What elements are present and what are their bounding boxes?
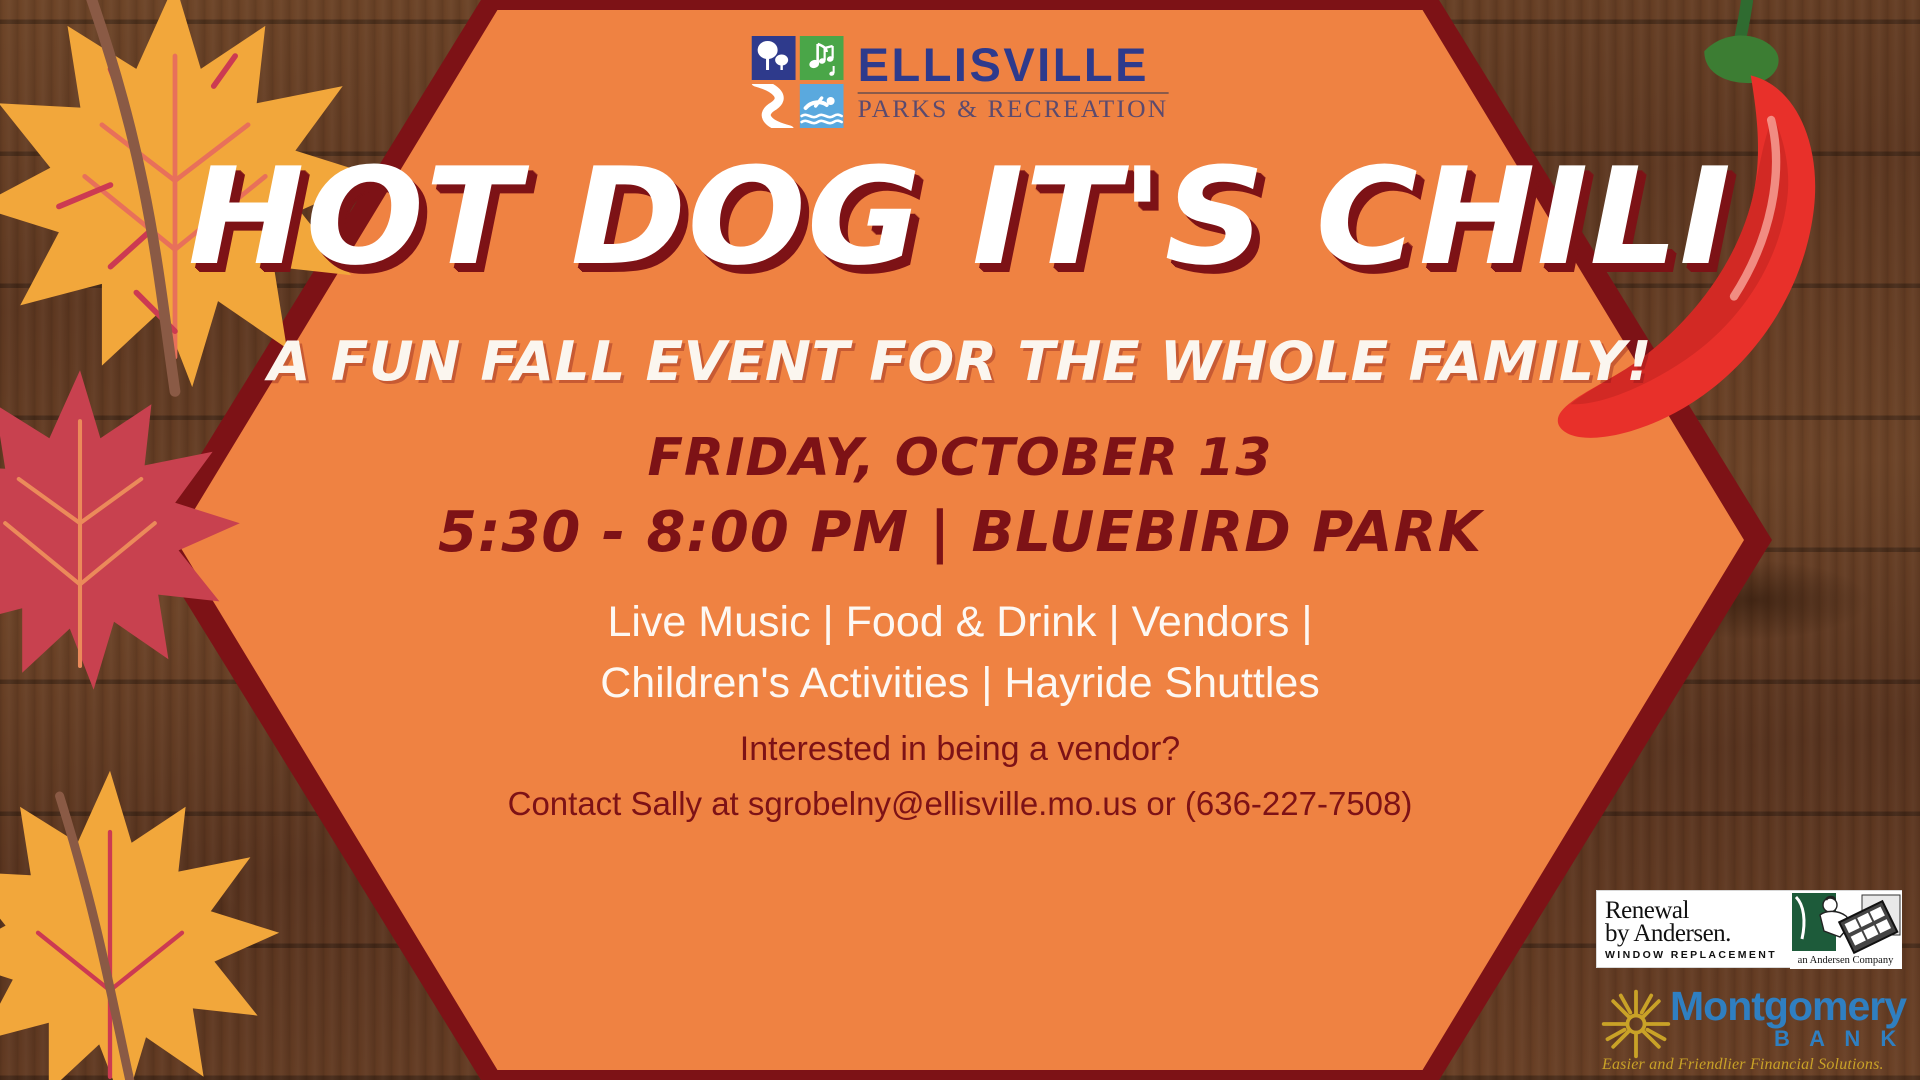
- vendor-question: Interested in being a vendor?: [0, 730, 1920, 769]
- rba-line-2: by Andersen.: [1605, 922, 1783, 945]
- event-time-location: 5:30 - 8:00 PM | BLUEBIRD PARK: [0, 500, 1920, 565]
- sunburst-icon: [1598, 986, 1674, 1062]
- montgomery-tagline: Easier and Friendlier Financial Solution…: [1602, 1056, 1908, 1074]
- vendor-contact: Contact Sally at sgrobelny@ellisville.mo…: [0, 785, 1920, 823]
- event-flyer: ELLISVILLE PARKS & RECREATION HOT DOG IT…: [0, 0, 1920, 1080]
- swimmer-icon: [800, 84, 844, 128]
- org-name: ELLISVILLE: [858, 43, 1169, 88]
- vendor-info: Interested in being a vendor? Contact Sa…: [0, 730, 1920, 823]
- rba-line-1: Renewal: [1605, 899, 1783, 922]
- rba-tagline: WINDOW REPLACEMENT: [1605, 949, 1783, 961]
- ellisville-parks-recreation-logo: ELLISVILLE PARKS & RECREATION: [752, 36, 1169, 128]
- montgomery-bank-logo: Montgomery B A N K Easier and Friendlier…: [1596, 972, 1912, 1076]
- activities-list: Live Music | Food & Drink | Vendors | Ch…: [0, 592, 1920, 714]
- montgomery-bank-word: B A N K: [1774, 1028, 1903, 1050]
- event-subtitle: A FUN FALL EVENT FOR THE WHOLE FAMILY!: [0, 330, 1920, 393]
- river-path-icon: [752, 84, 796, 128]
- page-title: HOT DOG IT'S CHILI: [0, 150, 1920, 284]
- logo-wordmark: ELLISVILLE PARKS & RECREATION: [858, 43, 1169, 121]
- trees-icon: [752, 36, 796, 80]
- rba-caption: an Andersen Company: [1790, 955, 1901, 966]
- logo-mark: [752, 36, 844, 128]
- event-date: FRIDAY, OCTOBER 13: [0, 428, 1920, 488]
- renewal-by-andersen-logo: Renewal by Andersen. WINDOW REPLACEMENT: [1596, 890, 1902, 968]
- org-subtitle: PARKS & RECREATION: [858, 96, 1169, 122]
- window-installer-icon: an Andersen Company: [1789, 891, 1901, 967]
- activities-line-2: Children's Activities | Hayride Shuttles: [0, 653, 1920, 714]
- music-notes-icon: [800, 36, 844, 80]
- sponsor-logos: Renewal by Andersen. WINDOW REPLACEMENT: [1596, 890, 1912, 1076]
- activities-line-1: Live Music | Food & Drink | Vendors |: [0, 592, 1920, 653]
- montgomery-name: Montgomery: [1670, 986, 1906, 1027]
- rba-wordmark: Renewal by Andersen. WINDOW REPLACEMENT: [1597, 891, 1789, 967]
